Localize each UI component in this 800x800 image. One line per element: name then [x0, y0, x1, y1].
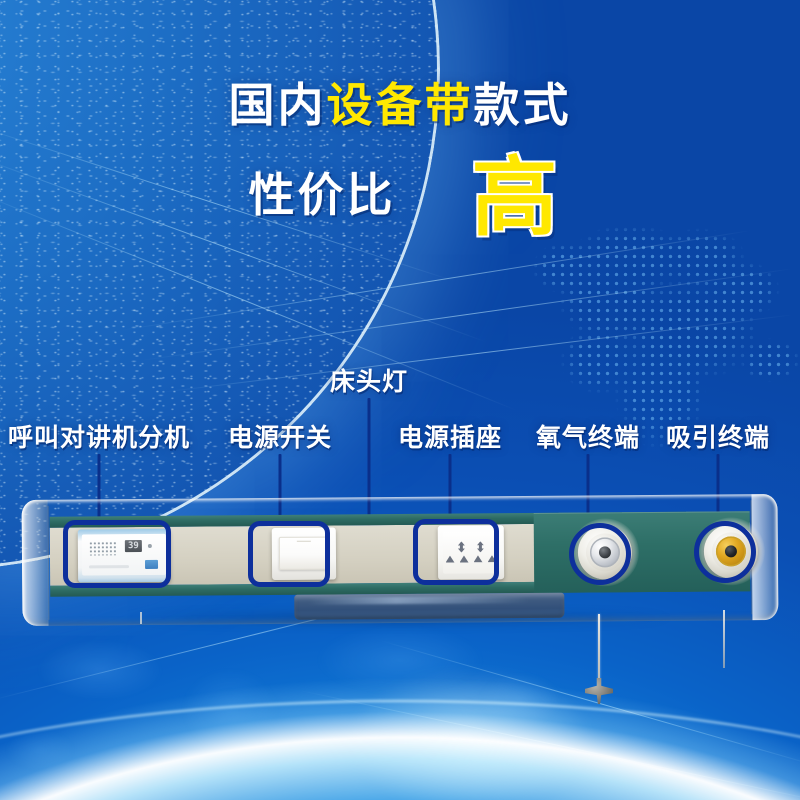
- oxygen-port-core: [599, 546, 611, 558]
- headline-line-1: 国内设备带款式: [0, 82, 800, 128]
- callout-label-socket: 电源插座: [398, 418, 502, 454]
- suction-terminal[interactable]: [704, 524, 758, 578]
- rocker-indicator-mark: [297, 541, 311, 542]
- power-switch-unit[interactable]: [272, 528, 336, 581]
- power-outlet-unit[interactable]: [438, 525, 504, 580]
- suction-inner-ring: [716, 536, 746, 566]
- callout-label-suction: 吸引终端: [666, 418, 770, 454]
- suction-port-core: [725, 545, 737, 557]
- callout-suction: 吸引终端: [666, 418, 770, 454]
- panel-end-cap-left: [22, 500, 49, 626]
- rocker-paddle[interactable]: [279, 537, 329, 570]
- intercom-mic-slot: [89, 565, 129, 568]
- callout-socket: 电源插座: [398, 418, 502, 454]
- intercom-call-button[interactable]: [145, 560, 158, 569]
- outlet-blade-icon: [445, 556, 454, 563]
- callout-bedlamp: 床头灯: [330, 362, 408, 398]
- outlet-lower-pin-row: [443, 555, 499, 562]
- intercom-display: 39: [125, 540, 142, 552]
- speaker-grille-icon: [89, 541, 117, 555]
- headline-part-2: 款式: [474, 79, 572, 131]
- headline-line-2-row: 性价比 高: [0, 154, 800, 236]
- headline-block: 国内设备带款式 性价比 高: [0, 82, 800, 236]
- headline-highlight: 设备带: [327, 79, 474, 131]
- oxygen-terminal[interactable]: [578, 525, 632, 579]
- outlet-upper-pin-row: [443, 542, 499, 551]
- oxygen-inner-ring: [590, 537, 620, 567]
- panel-body: 39: [22, 494, 779, 626]
- outlet-blade-icon: [487, 555, 496, 562]
- outlet-ground-pin-icon: [460, 543, 463, 552]
- callout-oxygen: 氧气终端: [536, 418, 640, 454]
- intercom-faceplate: 39: [82, 534, 166, 576]
- outlet-faceplate: [443, 531, 499, 573]
- callout-switch: 电源开关: [228, 418, 332, 454]
- outlet-ground-pin-icon: [479, 542, 482, 551]
- headline-emphasis-word: 高: [472, 158, 558, 240]
- headline-part-1: 国内: [229, 79, 327, 131]
- banner-stage: 国内设备带款式 性价比 高 呼叫对讲机分机 电源开关 床头灯 电源插座 氧气终端: [0, 0, 800, 800]
- suction-pull-cord[interactable]: [598, 614, 600, 686]
- bedside-lamp-strip[interactable]: [294, 593, 564, 620]
- status-led-icon: [148, 544, 152, 548]
- callout-label-intercom: 呼叫对讲机分机: [8, 418, 190, 454]
- lamp-gloss-highlight: [308, 596, 528, 605]
- headline-line-2: 性价比: [249, 172, 396, 218]
- callout-label-oxygen: 氧气终端: [536, 418, 640, 454]
- callout-intercom: 呼叫对讲机分机: [8, 418, 190, 454]
- nurse-call-intercom-unit[interactable]: 39: [78, 529, 170, 583]
- panel-wire-left: [140, 612, 142, 624]
- outlet-blade-icon: [473, 555, 482, 562]
- callout-label-group: 呼叫对讲机分机 电源开关 床头灯 电源插座 氧气终端 吸引终端: [0, 358, 800, 498]
- bed-head-unit-panel: 39: [22, 497, 778, 629]
- callout-label-switch: 电源开关: [228, 418, 332, 454]
- suction-hose-line: [723, 610, 725, 668]
- callout-label-bedlamp: 床头灯: [330, 362, 408, 398]
- outlet-blade-icon: [459, 555, 468, 562]
